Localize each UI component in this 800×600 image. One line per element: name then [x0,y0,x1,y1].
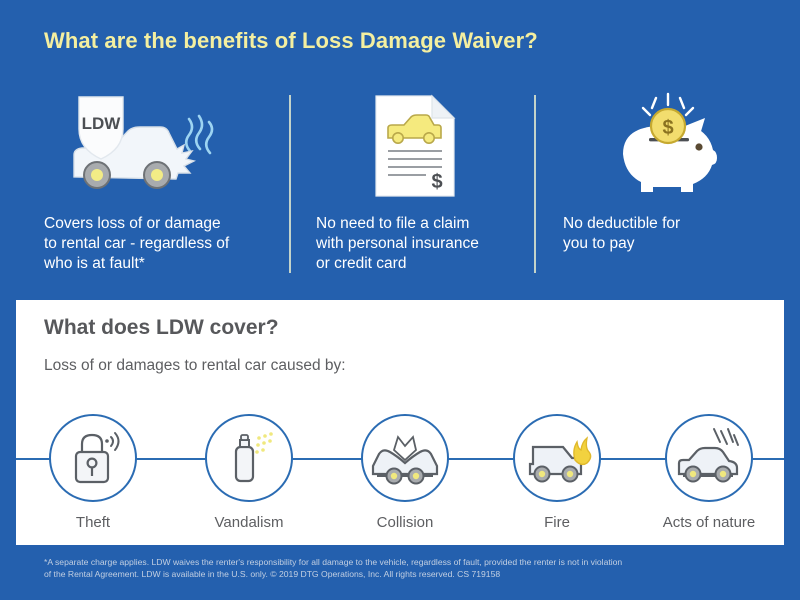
shield-label: LDW [82,114,122,133]
burning-car-icon [513,414,601,502]
benefits-row: LDW Covers loss of or damage to rental c… [0,88,800,283]
coverage-item-vandalism[interactable]: Vandalism [197,398,301,531]
claim-document-with-car-and-dollar-icon: $ [316,88,535,198]
svg-text:$: $ [431,171,442,193]
coverage-item-theft[interactable]: Theft [41,398,145,531]
spray-can-icon [205,414,293,502]
padlock-with-signal-waves-icon [49,414,137,502]
panel-subheading: Loss of or damages to rental car caused … [44,357,346,375]
car-with-hail-icon [665,414,753,502]
benefit-text: No need to file a claim with personal in… [316,214,535,274]
coverage-label: Collision [353,514,457,531]
coverage-panel: What does LDW cover? Loss of or damages … [16,300,784,545]
coverage-label: Fire [505,514,609,531]
panel-heading: What does LDW cover? [44,316,279,340]
svg-text:$: $ [662,117,673,139]
coverage-label: Vandalism [197,514,301,531]
benefit-item-coverage: LDW Covers loss of or damage to rental c… [0,88,290,283]
coverage-item-collision[interactable]: Collision [353,398,457,531]
benefit-item-no-claim: $ No need to file a claim with personal … [290,88,535,283]
benefit-item-no-deductible: $ No deductible for you to pay [535,88,800,283]
coverage-row: Theft Vandalism [16,398,784,528]
damaged-car-with-ldw-shield-icon: LDW [44,88,290,198]
coverage-item-fire[interactable]: Fire [505,398,609,531]
piggy-bank-with-coin-icon: $ [563,88,800,198]
coverage-label: Theft [41,514,145,531]
coverage-item-acts-of-nature[interactable]: Acts of nature [657,398,761,531]
page-title: What are the benefits of Loss Damage Wai… [44,28,538,54]
crashed-car-icon [361,414,449,502]
coverage-label: Acts of nature [657,514,761,531]
benefit-text: No deductible for you to pay [563,214,800,254]
footnote-disclaimer: *A separate charge applies. LDW waives t… [44,556,764,580]
benefit-text: Covers loss of or damage to rental car -… [44,214,290,274]
